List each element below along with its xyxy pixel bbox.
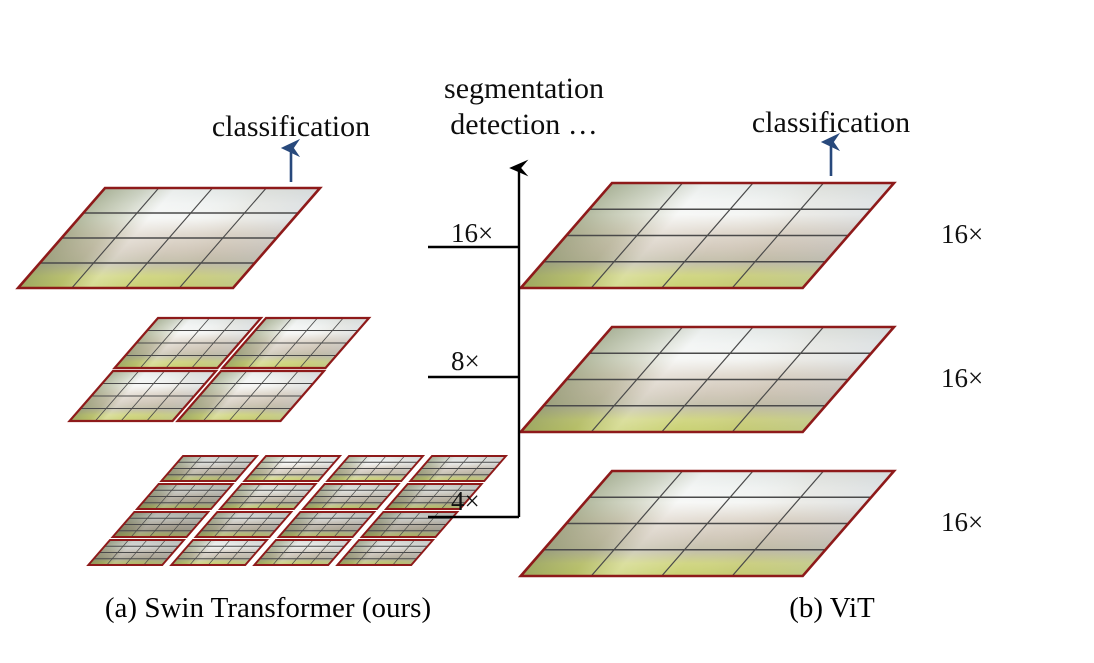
vit-layer-16x-top: [521, 183, 894, 288]
swin-4x-tile: [220, 484, 316, 509]
swin-4x-tile: [279, 512, 375, 537]
classification-label-vit: classification: [718, 106, 944, 140]
dense-task-label-line1: segmentation: [408, 72, 640, 106]
swin-4x-tile: [254, 540, 350, 565]
scale-label-vit-mid-16x: 16×: [941, 363, 983, 394]
swin-4x-tile: [196, 512, 292, 537]
swin-4x-tile: [244, 456, 340, 481]
scale-label-vit-bot-16x: 16×: [941, 507, 983, 538]
scale-label-swin-8x: 8×: [451, 346, 480, 377]
vit-layer-16x-mid: [521, 327, 894, 432]
figure-root: classification segmentation detection … …: [0, 0, 1094, 663]
swin-4x-tile: [161, 456, 257, 481]
caption-panel-a: (a) Swin Transformer (ours): [58, 592, 478, 625]
vit-layer-16x-bot: [521, 471, 894, 576]
swin-layer-8x: [70, 318, 369, 421]
swin-4x-tile: [327, 456, 423, 481]
swin-4x-tile: [137, 484, 233, 509]
swin-4x-tile: [88, 540, 184, 565]
swin-layer-16x: [18, 188, 320, 288]
swin-4x-tile: [303, 484, 399, 509]
swin-4x-tile: [171, 540, 267, 565]
swin-4x-tile: [410, 456, 506, 481]
swin-4x-tile: [113, 512, 209, 537]
swin-4x-tile: [362, 512, 458, 537]
caption-panel-b: (b) ViT: [702, 592, 962, 625]
classification-label-swin: classification: [178, 110, 404, 144]
scale-label-swin-4x: 4×: [451, 486, 480, 517]
swin-layer-4x: [88, 456, 506, 565]
scale-label-swin-16x: 16×: [451, 218, 493, 249]
swin-4x-tile: [337, 540, 433, 565]
scale-label-vit-top-16x: 16×: [941, 219, 983, 250]
dense-task-label-line2: detection …: [408, 108, 640, 142]
